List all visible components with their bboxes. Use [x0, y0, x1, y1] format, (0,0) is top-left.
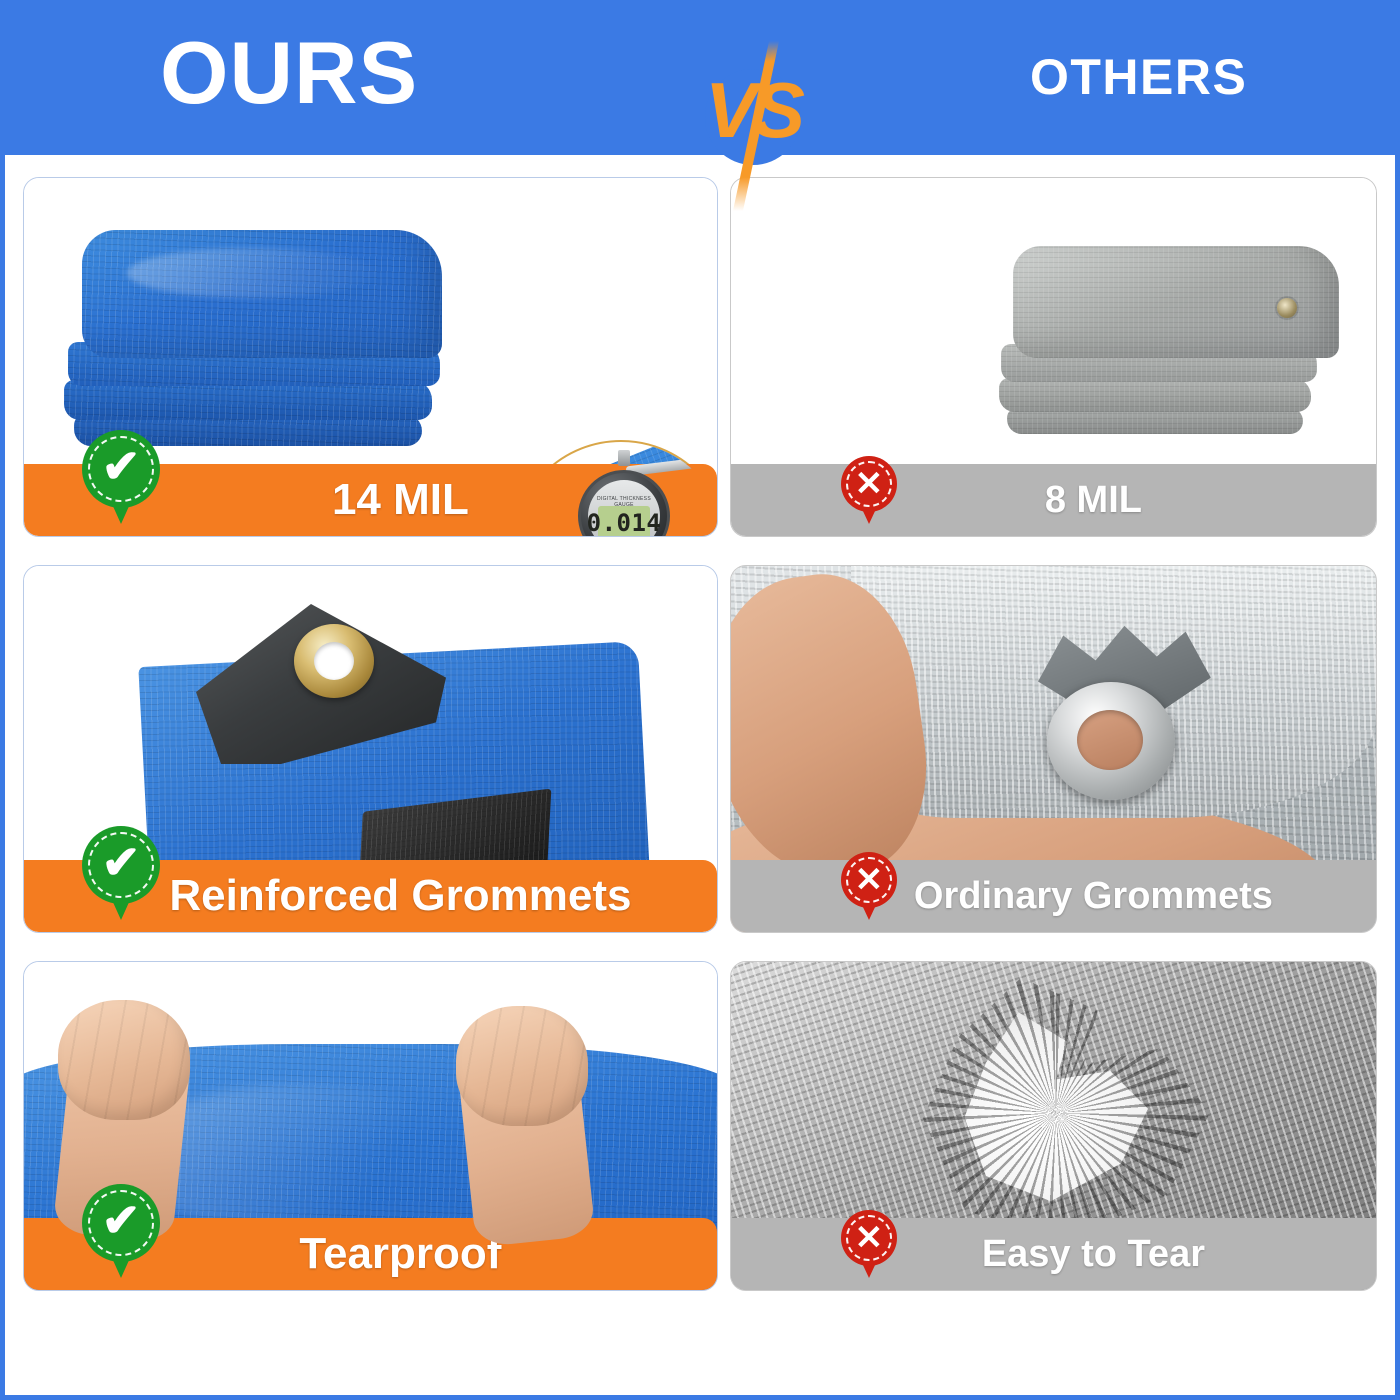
right-fist [456, 1006, 588, 1126]
others-card-tear: ✕ Easy to Tear [730, 961, 1377, 1291]
others-card-thickness: DIGITAL THICKNESS GAUGE 0.011 IN/mm ON/O… [730, 177, 1377, 537]
check-icon: ✔ [82, 1184, 160, 1262]
cross-icon: ✕ [841, 456, 897, 512]
ours-card-tear: ✔ Tearproof [23, 961, 718, 1291]
gray-folded-tarp [999, 246, 1351, 436]
cross-badge-pin: ✕ [841, 456, 897, 512]
ours-card-grommets: ✔ Reinforced Grommets [23, 565, 718, 933]
comparison-row-thickness: DIGITAL THICKNESS GAUGE 0.014 IN/mm ON/O… [23, 177, 1377, 537]
check-badge-pin: ✔ [82, 826, 160, 904]
cross-badge-pin: ✕ [841, 1210, 897, 1266]
left-fist [58, 1000, 190, 1120]
tarp-grommet-icon [1277, 298, 1297, 318]
check-badge-pin: ✔ [82, 430, 160, 508]
comparison-row-tear: ✔ Tearproof ✕ Easy to Tear [23, 961, 1377, 1291]
ordinary-grommet-icon [1047, 682, 1175, 800]
check-icon: ✔ [82, 430, 160, 508]
ours-gauge-reading: 0.014 [598, 506, 650, 537]
others-thickness-label: 8 MIL [731, 481, 1376, 519]
cross-icon: ✕ [841, 852, 897, 908]
ours-title: OURS [160, 29, 418, 117]
blue-folded-tarp [64, 230, 454, 445]
others-grommet-label-bar: Ordinary Grommets [731, 860, 1376, 932]
check-icon: ✔ [82, 826, 160, 904]
check-badge-pin: ✔ [82, 1184, 160, 1262]
others-thickness-label-bar: 8 MIL [731, 464, 1376, 536]
comparison-rows: DIGITAL THICKNESS GAUGE 0.014 IN/mm ON/O… [5, 155, 1395, 1291]
comparison-row-grommets: ✔ Reinforced Grommets ✕ [23, 565, 1377, 933]
thickness-gauge-icon: DIGITAL THICKNESS GAUGE 0.014 IN/mm ON/O… [570, 448, 718, 537]
others-tear-label-bar: Easy to Tear [731, 1218, 1376, 1290]
cross-badge-pin: ✕ [841, 852, 897, 908]
others-title: OTHERS [1030, 52, 1247, 102]
ours-card-thickness: DIGITAL THICKNESS GAUGE 0.014 IN/mm ON/O… [23, 177, 718, 537]
cross-icon: ✕ [841, 1210, 897, 1266]
reinforced-corner-art [144, 596, 644, 886]
brass-grommet-icon [294, 624, 374, 698]
others-tear-label: Easy to Tear [731, 1235, 1376, 1273]
vs-badge: VS [693, 41, 813, 211]
others-grommet-label: Ordinary Grommets [731, 877, 1376, 915]
others-card-grommets: ✕ Ordinary Grommets [730, 565, 1377, 933]
